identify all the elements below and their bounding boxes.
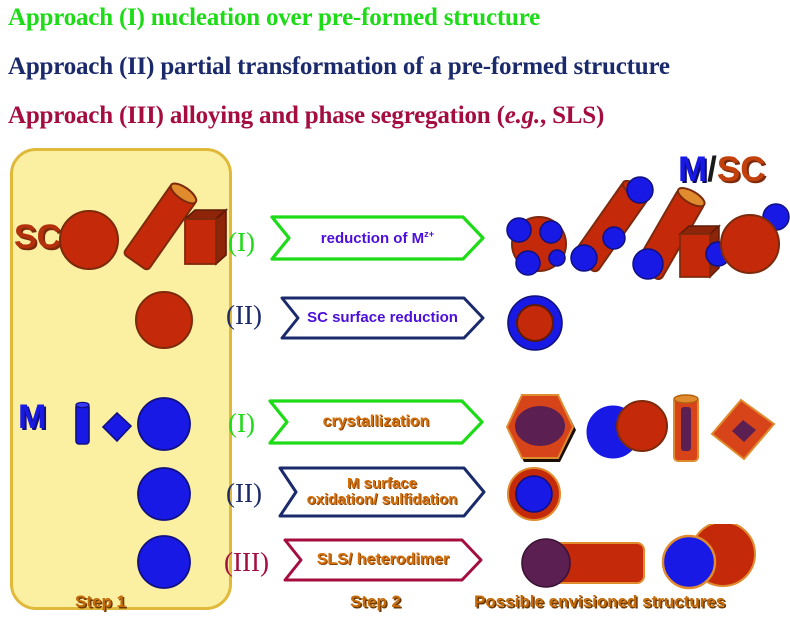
metal-label: M [18,400,46,434]
step-label-row3: (I) [228,408,255,439]
legend-semiconductor: SC [717,150,766,189]
arrow-label-row4-line1: M surface [307,476,458,492]
sc-sphere-row2 [134,290,194,350]
approach-3-header-emphasis: e.g. [505,102,540,129]
step-label-row2: (II) [226,300,262,331]
approach-3-header-pre: Approach (III) alloying and phase segreg… [8,102,505,129]
arrow-label-row3: crystallization [323,414,430,431]
structure-core-shell-red-core [506,294,564,352]
structure-sphere-single-dot [718,200,790,278]
structure-heterodimer-blue-red [655,524,765,590]
caption-step-2: Step 2 [350,592,401,612]
structure-diamond-alloy-core [708,396,778,464]
approach-3-header: Approach (III) alloying and phase segreg… [8,102,604,130]
step-label-row4: (II) [226,478,262,509]
arrow-label-row4-line2: oxidation/ sulfidation [307,492,458,508]
structure-core-shell-blue-core [506,466,562,522]
arrow-label-row5: SLS/ heterodimer [317,552,449,569]
approach-3-header-post: , SLS) [540,102,604,129]
sc-cube-row1 [180,205,232,269]
m-sphere-row1 [136,396,192,452]
m-rod-row1 [72,399,94,447]
arrow-label-row1: reduction of Mz+ [321,230,434,247]
arrow-reduction-of-m[interactable]: reduction of Mz+ [270,215,485,261]
m-diamond-row1 [100,410,134,444]
arrow-sc-surface-reduction[interactable]: SC surface reduction [280,296,485,340]
arrow-label-row4: M surface oxidation/ sulfidation [307,476,458,508]
step-label-row5: (III) [224,547,269,578]
approach-2-header: Approach (II) partial transformation of … [8,53,670,81]
arrow-crystallization[interactable]: crystallization [268,399,484,445]
diagram-canvas: Approach (I) nucleation over pre-formed … [0,0,790,630]
caption-envisioned-structures: Possible envisioned structures [474,592,725,612]
caption-step-1: Step 1 [75,592,126,612]
arrow-sls-heterodimer[interactable]: SLS/ heterodimer [283,538,483,582]
m-sphere-row3 [136,534,192,590]
structure-sls-rod-with-catalyst [506,533,651,591]
step-label-row1: (I) [228,227,255,258]
arrow-label-row2: SC surface reduction [307,310,458,326]
semiconductor-label: SC [14,220,61,254]
structure-heterodimer-spheres-row3 [586,396,668,464]
m-sphere-row2 [136,466,192,522]
approach-1-header: Approach (I) nucleation over pre-formed … [8,4,540,32]
sc-sphere-row1 [58,209,120,271]
structure-hexagon-alloy [502,392,582,468]
structure-rod-alloy-core [668,393,704,465]
arrow-m-surface-oxidation[interactable]: M surface oxidation/ sulfidation [278,466,486,518]
